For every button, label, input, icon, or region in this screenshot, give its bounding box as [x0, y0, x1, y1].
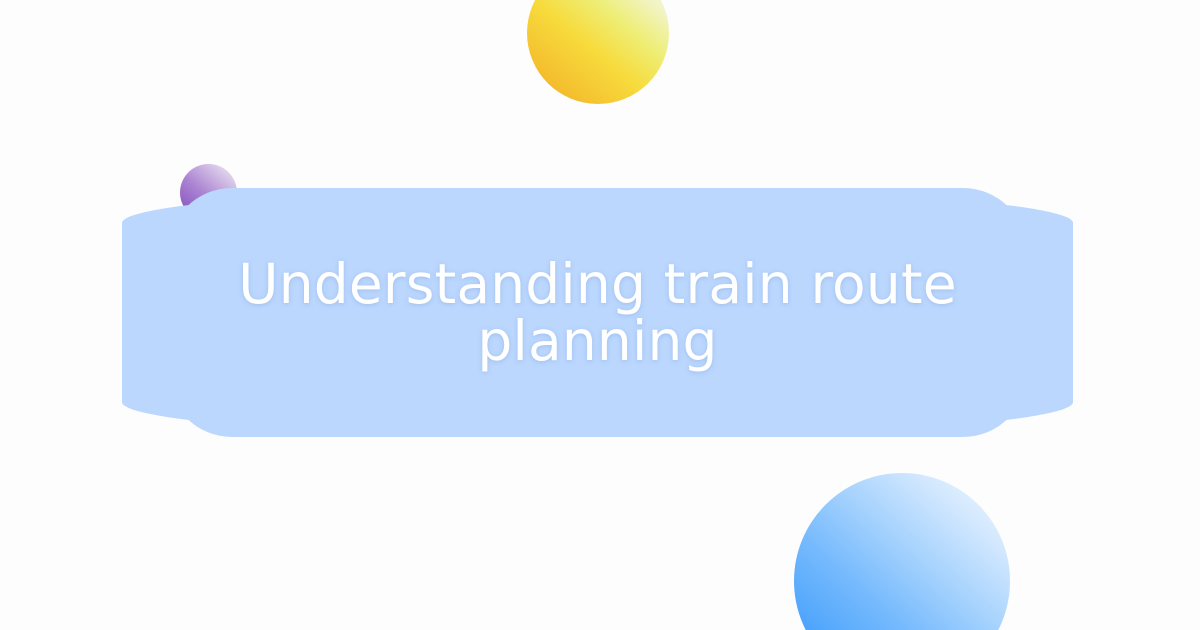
page-title: Understanding train route planning — [232, 256, 963, 369]
share-card-canvas: Understanding train route planning — [0, 0, 1200, 630]
title-card: Understanding train route planning — [122, 188, 1073, 437]
blue-circle-decoration — [794, 473, 1010, 630]
yellow-circle-decoration — [527, 0, 669, 104]
